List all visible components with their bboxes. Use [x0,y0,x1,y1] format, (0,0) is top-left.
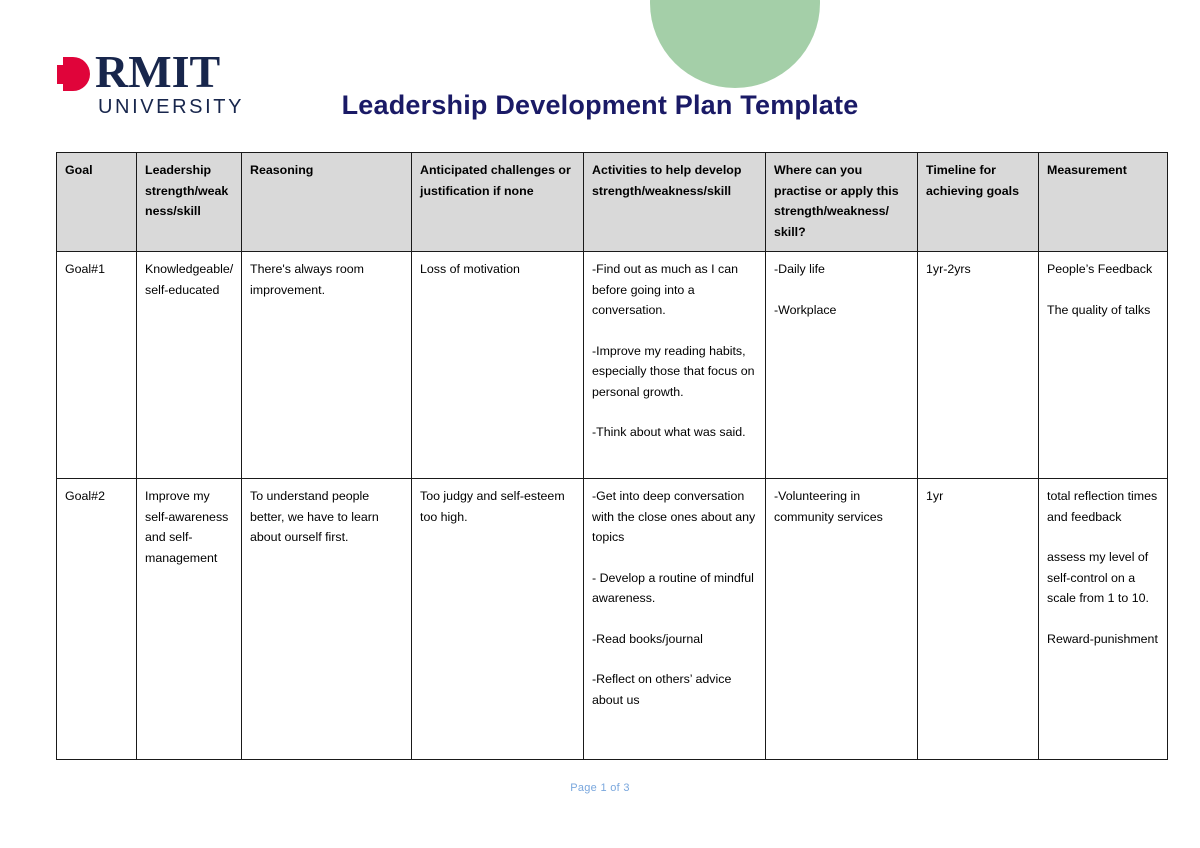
page-footer: Page 1 of 3 [0,778,1200,796]
table-header-row: Goal Leadership strength/weakness/skill … [57,153,1168,252]
column-header-reasoning: Reasoning [242,153,412,252]
cell-paragraph: To understand people better, we have to … [250,486,404,548]
cell-paragraph: People’s Feedback [1047,259,1160,280]
cell-measurement[interactable]: People’s Feedback The quality of talks [1039,252,1168,479]
cell-paragraph: -Daily life [774,259,910,280]
page-number-label: Page 1 of 3 [570,782,630,794]
cell-paragraph: - Develop a routine of mindful awareness… [592,568,758,609]
column-header-timeline: Timeline for achieving goals [918,153,1039,252]
cell-leadership-strength[interactable]: Knowledgeable/self-educated [137,252,242,479]
cell-anticipated-challenges[interactable]: Too judgy and self-esteem too high. [412,479,584,760]
green-semicircle-decoration [650,0,820,88]
page-title: Leadership Development Plan Template [0,90,1200,121]
column-header-anticipated-challenges: Anticipated challenges or justification … [412,153,584,252]
column-header-leadership-strength: Leadership strength/weakness/skill [137,153,242,252]
cell-paragraph: -Think about what was said. [592,422,758,443]
cell-paragraph: There's always room improvement. [250,259,404,300]
cell-paragraph: 1yr-2yrs [926,259,1031,280]
cell-reasoning[interactable]: There's always room improvement. [242,252,412,479]
cell-paragraph: -Reflect on others’ advice about us [592,669,758,710]
cell-where-practise[interactable]: -Volunteering in community services [766,479,918,760]
cell-goal[interactable]: Goal#2 [57,479,137,760]
cell-reasoning[interactable]: To understand people better, we have to … [242,479,412,760]
table-row: Goal#2 Improve my self-awareness and sel… [57,479,1168,760]
cell-activities[interactable]: -Get into deep conversation with the clo… [584,479,766,760]
rmit-logo-mark-icon [57,57,90,91]
column-header-activities: Activities to help develop strength/weak… [584,153,766,252]
page-header: RMIT UNIVERSITY Leadership Development P… [0,0,1200,150]
column-header-goal: Goal [57,153,137,252]
cell-leadership-strength[interactable]: Improve my self-awareness and self-manag… [137,479,242,760]
cell-paragraph: The quality of talks [1047,300,1160,321]
leadership-development-plan-table: Goal Leadership strength/weakness/skill … [56,152,1168,760]
cell-goal[interactable]: Goal#1 [57,252,137,479]
cell-paragraph: 1yr [926,486,1031,507]
cell-paragraph: Loss of motivation [420,259,576,280]
cell-paragraph: assess my level of self-control on a sca… [1047,547,1160,609]
cell-timeline[interactable]: 1yr [918,479,1039,760]
cell-activities[interactable]: -Find out as much as I can before going … [584,252,766,479]
cell-paragraph: -Read books/journal [592,629,758,650]
cell-where-practise[interactable]: -Daily life -Workplace [766,252,918,479]
table-row: Goal#1 Knowledgeable/self-educated There… [57,252,1168,479]
cell-measurement[interactable]: total reflection times and feedback asse… [1039,479,1168,760]
cell-anticipated-challenges[interactable]: Loss of motivation [412,252,584,479]
cell-paragraph: -Workplace [774,300,910,321]
cell-paragraph: Reward-punishment [1047,629,1160,650]
cell-paragraph: -Get into deep conversation with the clo… [592,486,758,548]
cell-paragraph: total reflection times and feedback [1047,486,1160,527]
cell-timeline[interactable]: 1yr-2yrs [918,252,1039,479]
cell-paragraph: -Find out as much as I can before going … [592,259,758,321]
column-header-measurement: Measurement [1039,153,1168,252]
cell-paragraph: -Improve my reading habits, especially t… [592,341,758,403]
cell-paragraph: Too judgy and self-esteem too high. [420,486,576,527]
column-header-where-practise: Where can you practise or apply this str… [766,153,918,252]
cell-paragraph: -Volunteering in community services [774,486,910,527]
